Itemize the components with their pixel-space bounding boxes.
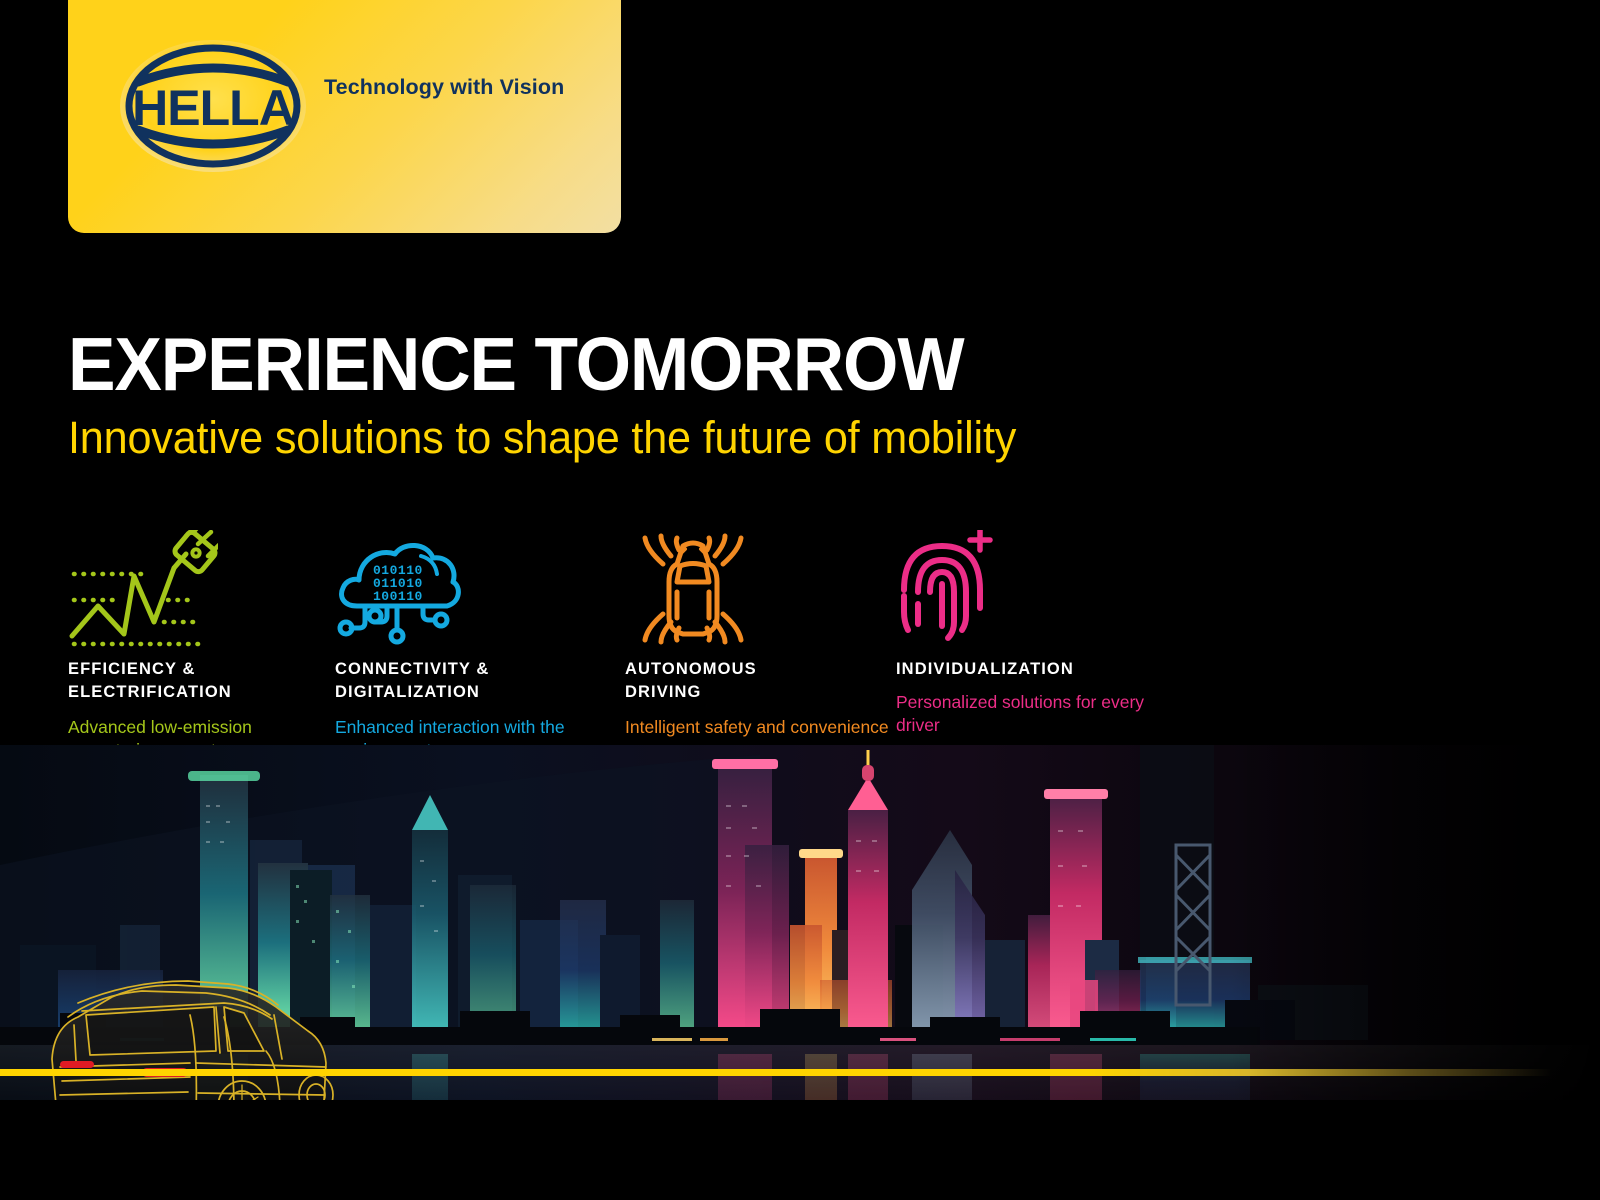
svg-text:100110: 100110: [373, 589, 423, 604]
feature-title: INDIVIDUALIZATION: [896, 658, 1186, 681]
feature-list: EFFICIENCY & ELECTRIFICATION Advanced lo…: [68, 530, 1248, 770]
bottom-background: [0, 1100, 1600, 1200]
cloud-network-icon: 010110 011010 100110: [335, 530, 600, 650]
car-radar-icon: [625, 530, 890, 650]
hella-logo-icon: HELLA: [118, 38, 308, 174]
page-title: EXPERIENCE TOMORROW: [68, 327, 963, 402]
feature-item-connectivity: 010110 011010 100110 CONNECTIVITY & DIGI…: [335, 530, 600, 650]
feature-item-individualization: INDIVIDUALIZATION Personalized solutions…: [896, 530, 1186, 650]
feature-item-efficiency: EFFICIENCY & ELECTRIFICATION Advanced lo…: [68, 530, 333, 650]
chart-plug-icon: [68, 530, 333, 650]
feature-title: CONNECTIVITY & DIGITALIZATION: [335, 658, 600, 705]
brand-tagline: Technology with Vision: [324, 75, 564, 100]
feature-body: Personalized solutions for every driver: [896, 691, 1186, 737]
feature-title: EFFICIENCY & ELECTRIFICATION: [68, 658, 333, 705]
feature-item-autonomous: AUTONOMOUS DRIVING Intelligent safety an…: [625, 530, 890, 650]
page-subtitle: Innovative solutions to shape the future…: [68, 415, 1016, 460]
feature-title: AUTONOMOUS DRIVING: [625, 658, 890, 705]
feature-body: Intelligent safety and convenience: [625, 716, 890, 739]
svg-text:HELLA: HELLA: [132, 80, 294, 136]
fingerprint-plus-icon: [896, 530, 1186, 650]
brand-logo-panel: HELLA Technology with Vision: [68, 0, 621, 233]
road-accent-line: [0, 1069, 1600, 1076]
